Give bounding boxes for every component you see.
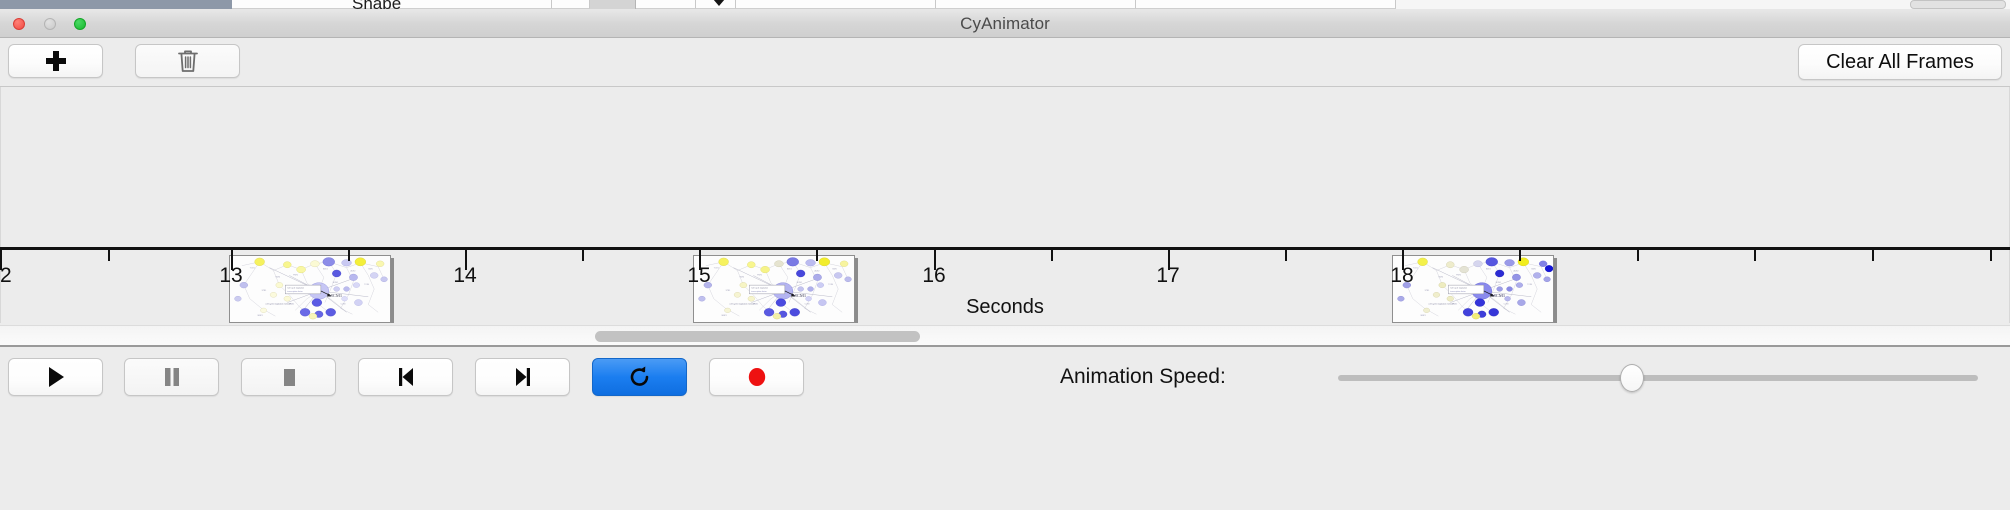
axis-tick-label: 13 xyxy=(219,264,242,288)
loop-button[interactable] xyxy=(592,358,687,396)
axis-tick-minor xyxy=(1754,250,1756,261)
trash-icon xyxy=(176,48,200,74)
loop-icon xyxy=(628,365,652,389)
axis-tick-label: 15 xyxy=(687,264,710,288)
animation-speed-label: Animation Speed: xyxy=(1060,365,1226,389)
record-button[interactable] xyxy=(709,358,804,396)
background-sidebar xyxy=(0,0,232,9)
plus-icon xyxy=(45,50,67,72)
skip-next-icon xyxy=(512,366,534,388)
skip-next-button[interactable] xyxy=(475,358,570,396)
record-icon xyxy=(746,366,768,388)
playback-control-bar: Animation Speed: xyxy=(0,349,2010,510)
axis-tick-minor xyxy=(1872,250,1874,261)
scrollbar-thumb[interactable] xyxy=(595,331,920,342)
axis-tick-label: 12 xyxy=(0,264,12,288)
pause-icon xyxy=(162,366,182,388)
slider-track[interactable] xyxy=(1338,375,1978,381)
axis-tick-minor xyxy=(1519,250,1521,261)
axis-tick-label: 17 xyxy=(1156,264,1179,288)
axis-tick-minor xyxy=(1051,250,1053,261)
axis-tick-label: 16 xyxy=(922,264,945,288)
frame-toolbar: Clear All Frames xyxy=(0,38,2010,87)
add-frame-button[interactable] xyxy=(8,44,103,78)
timeline-axis: 12131415161718 Seconds xyxy=(0,240,2010,325)
stop-button[interactable] xyxy=(241,358,336,396)
timeline-scrollbar[interactable] xyxy=(0,325,2010,347)
background-cell xyxy=(552,0,590,9)
background-cell xyxy=(736,0,936,9)
delete-frame-button[interactable] xyxy=(135,44,240,78)
title-bar[interactable]: CyAnimator xyxy=(0,9,2010,38)
axis-tick-minor xyxy=(1990,250,1992,261)
axis-tick-minor xyxy=(1285,250,1287,261)
axis-title: Seconds xyxy=(0,296,2010,319)
clear-all-frames-button[interactable]: Clear All Frames xyxy=(1798,44,2002,80)
axis-line xyxy=(0,247,2010,250)
window-title: CyAnimator xyxy=(0,9,2010,38)
axis-tick-minor xyxy=(816,250,818,261)
axis-tick-label: 18 xyxy=(1390,264,1413,288)
play-button[interactable] xyxy=(8,358,103,396)
animation-speed-slider[interactable] xyxy=(1338,375,1978,381)
axis-tick-minor xyxy=(1637,250,1639,261)
play-icon xyxy=(46,366,66,388)
slider-thumb[interactable] xyxy=(1620,364,1644,392)
axis-tick-minor xyxy=(582,250,584,261)
skip-previous-icon xyxy=(395,366,417,388)
skip-previous-button[interactable] xyxy=(358,358,453,396)
background-cell xyxy=(636,0,696,9)
pause-button[interactable] xyxy=(124,358,219,396)
background-tab xyxy=(590,0,636,9)
background-caret-icon xyxy=(713,0,725,6)
axis-tick-minor xyxy=(108,250,110,261)
axis-tick-label: 14 xyxy=(453,264,476,288)
axis-tick-minor xyxy=(348,250,350,261)
stop-icon xyxy=(279,366,299,388)
background-scrollbar xyxy=(1910,0,2006,9)
background-app-text: Shape xyxy=(352,0,401,9)
background-cell xyxy=(1136,0,1396,9)
background-cell xyxy=(936,0,1136,9)
background-window-strip: Shape xyxy=(0,0,2010,9)
cyanimator-window: Shape CyAnimator Clear All Frames xyxy=(0,0,2010,510)
